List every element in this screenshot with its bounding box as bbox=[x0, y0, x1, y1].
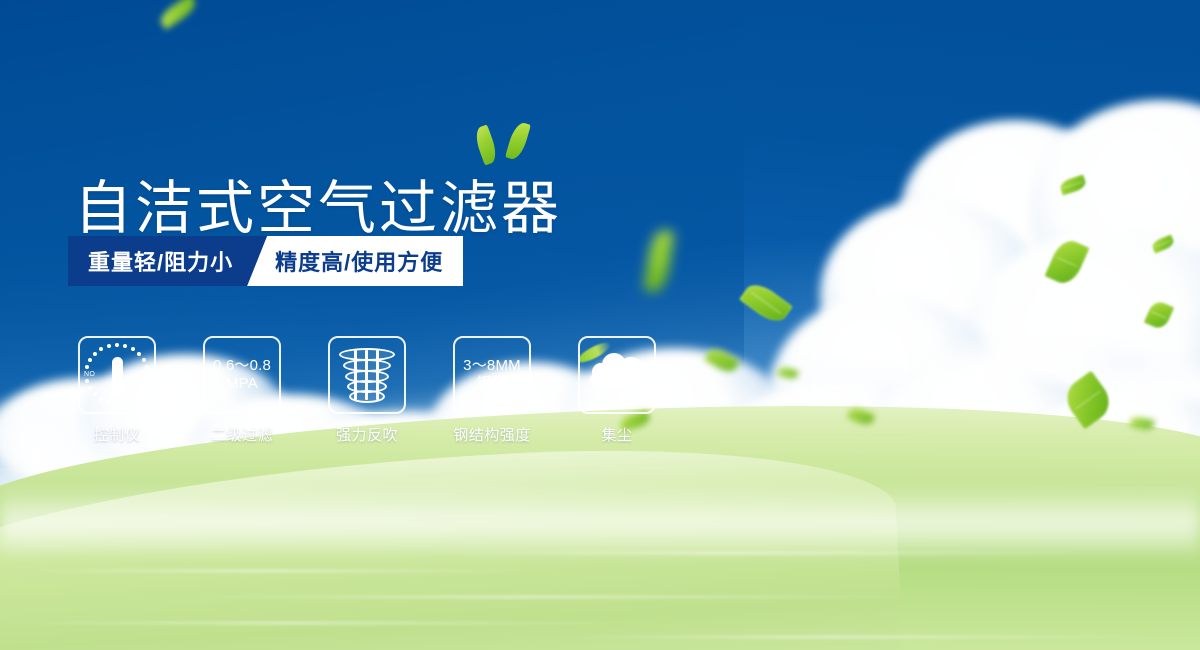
grass-streak bbox=[420, 552, 1120, 554]
feature-highlights-row: NO OFF 控制仪 0.6～0.8 MPA 二级过滤 bbox=[78, 336, 656, 445]
sprout-leaf-left bbox=[472, 124, 500, 165]
cloud-air-icon: Air bbox=[586, 345, 648, 405]
gauge-icon: NO OFF bbox=[82, 340, 152, 410]
feature-label-steel: 钢结构强度 bbox=[453, 424, 531, 445]
feature-label-blowback: 强力反吹 bbox=[336, 424, 398, 445]
feature-item-controller[interactable]: NO OFF 控制仪 bbox=[78, 336, 156, 445]
horizon-haze bbox=[0, 484, 1200, 554]
feature-box-steel: 3～8MM 钢板 bbox=[453, 336, 531, 414]
filter-stack-icon bbox=[339, 346, 395, 404]
grass-streak bbox=[180, 596, 940, 598]
sprout-leaf-right bbox=[505, 121, 531, 162]
feature-label-dust: 集尘 bbox=[601, 424, 632, 445]
steel-plate-icon: 3～8MM 钢板 bbox=[463, 357, 521, 392]
subtitle-tag-secondary: 精度高/使用方便 bbox=[247, 236, 463, 286]
feature-box-pressure: 0.6～0.8 MPA bbox=[203, 336, 281, 414]
feature-box-blowback bbox=[328, 336, 406, 414]
gauge-switch-knob bbox=[112, 357, 123, 397]
pressure-icon: 0.6～0.8 MPA bbox=[213, 357, 271, 392]
sprout-leaves-decoration bbox=[470, 112, 540, 172]
air-caption: Air bbox=[586, 390, 648, 404]
feature-label-controller: 控制仪 bbox=[94, 424, 141, 445]
subtitle-tag-primary: 重量轻/阻力小 bbox=[68, 236, 267, 286]
gauge-label-no: NO bbox=[84, 371, 95, 378]
page-title: 自洁式空气过滤器 bbox=[74, 179, 562, 237]
feature-label-pressure: 二级过滤 bbox=[211, 424, 273, 445]
feature-item-steel[interactable]: 3～8MM 钢板 钢结构强度 bbox=[453, 336, 531, 445]
feature-item-blowback[interactable]: 强力反吹 bbox=[328, 336, 406, 445]
feature-item-pressure[interactable]: 0.6～0.8 MPA 二级过滤 bbox=[203, 336, 281, 445]
grass-streak bbox=[560, 636, 1160, 638]
product-hero-banner: 自洁式空气过滤器 重量轻/阻力小 精度高/使用方便 bbox=[0, 0, 1200, 650]
grass-streak bbox=[20, 570, 540, 572]
feature-item-dust[interactable]: Air 集尘 bbox=[578, 336, 656, 445]
grass-streak bbox=[0, 622, 640, 624]
feature-box-controller: NO OFF bbox=[78, 336, 156, 414]
feature-box-dust: Air bbox=[578, 336, 656, 414]
subtitle-tag-bar: 重量轻/阻力小 精度高/使用方便 bbox=[68, 236, 463, 286]
gauge-label-off: OFF bbox=[134, 394, 149, 401]
